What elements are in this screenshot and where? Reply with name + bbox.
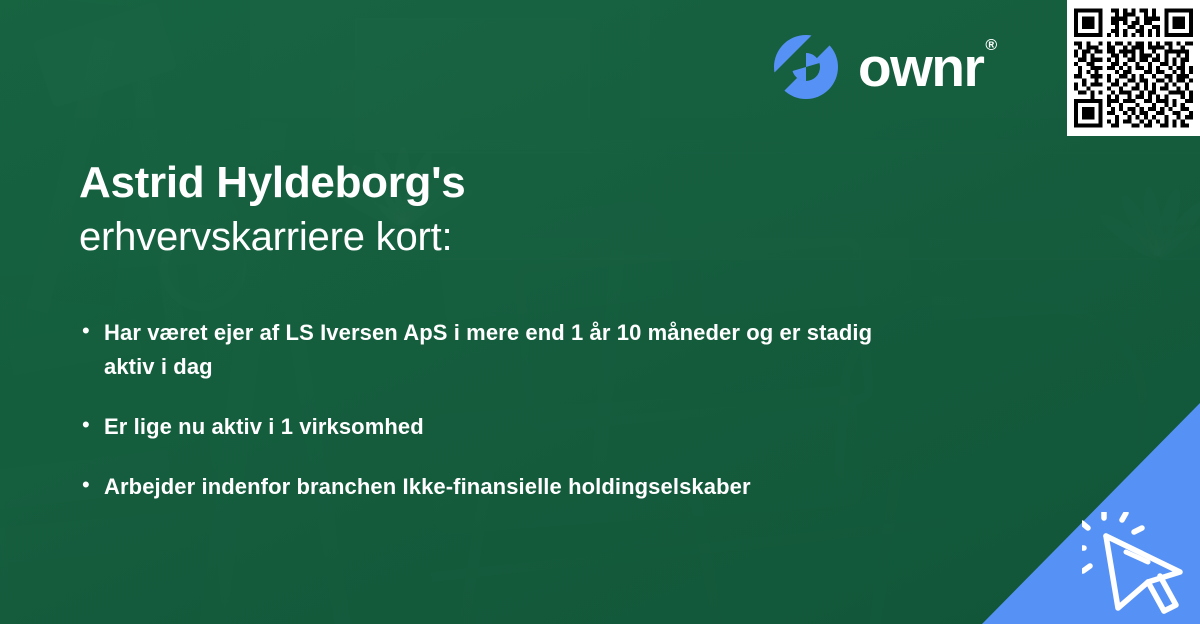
brand-lockup: ownr® <box>772 33 995 101</box>
promo-card: ownr® <box>0 0 1200 624</box>
career-facts-list: • Har været ejer af LS Iversen ApS i mer… <box>82 316 982 530</box>
registered-trademark-icon: ® <box>985 37 997 54</box>
brand-wordmark-text: ownr <box>858 36 983 98</box>
list-item: • Har været ejer af LS Iversen ApS i mer… <box>82 316 982 384</box>
headline-name: Astrid Hyldeborg's <box>79 158 465 207</box>
brand-wordmark: ownr® <box>858 40 995 95</box>
bullet-icon: • <box>82 410 104 440</box>
headline-subtitle: erhvervskarriere kort: <box>79 213 465 261</box>
qr-code-panel[interactable] <box>1067 0 1200 136</box>
ownr-circle-logo-icon <box>772 33 840 101</box>
bullet-icon: • <box>82 316 104 346</box>
list-item: • Er lige nu aktiv i 1 virksomhed <box>82 410 982 444</box>
fact-text: Er lige nu aktiv i 1 virksomhed <box>104 410 424 444</box>
list-item: • Arbejder indenfor branchen Ikke-finans… <box>82 470 982 504</box>
fact-text: Arbejder indenfor branchen Ikke-finansie… <box>104 470 751 504</box>
page-title: Astrid Hyldeborg's erhvervskarriere kort… <box>79 158 465 261</box>
fact-text: Har været ejer af LS Iversen ApS i mere … <box>104 316 884 384</box>
qr-code-icon[interactable] <box>1074 7 1193 129</box>
bullet-icon: • <box>82 470 104 500</box>
click-cursor-icon <box>1082 512 1194 616</box>
